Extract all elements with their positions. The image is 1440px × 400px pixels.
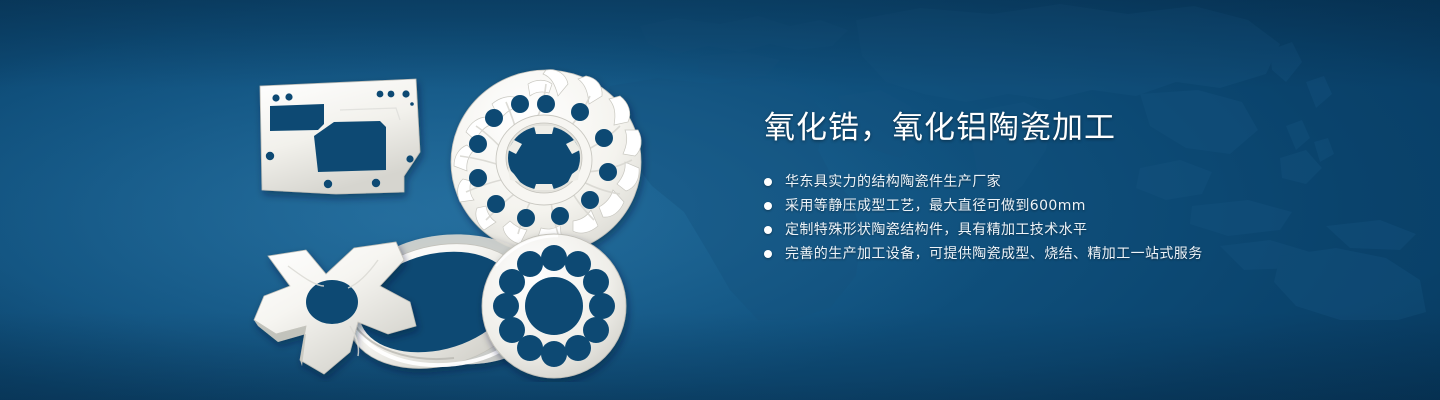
banner-text-block: 氧化锆，氧化铝陶瓷加工 华东具实力的结构陶瓷件生产厂家 采用等静压成型工艺，最大… — [764, 108, 1384, 266]
list-item: 完善的生产加工设备，可提供陶瓷成型、烧结、精加工一站式服务 — [764, 242, 1384, 266]
bullet-text: 华东具实力的结构陶瓷件生产厂家 — [785, 170, 1001, 194]
ceramic-parts-photo — [228, 34, 658, 382]
banner-feature-list: 华东具实力的结构陶瓷件生产厂家 采用等静压成型工艺，最大直径可做到600mm 定… — [764, 170, 1384, 266]
ceramic-parts-illustration — [228, 34, 658, 382]
list-item: 采用等静压成型工艺，最大直径可做到600mm — [764, 194, 1384, 218]
bullet-dot-icon — [764, 178, 772, 186]
bullet-text: 定制特殊形状陶瓷结构件，具有精加工技术水平 — [785, 218, 1087, 242]
bullet-dot-icon — [764, 202, 772, 210]
bullet-text: 采用等静压成型工艺，最大直径可做到600mm — [785, 194, 1086, 218]
banner-headline: 氧化锆，氧化铝陶瓷加工 — [764, 108, 1384, 148]
list-item: 华东具实力的结构陶瓷件生产厂家 — [764, 170, 1384, 194]
bullet-dot-icon — [764, 250, 772, 258]
bullet-dot-icon — [764, 226, 772, 234]
perforated-ceramic-flange-disc — [482, 234, 626, 378]
machined-ceramic-plate — [260, 79, 420, 194]
list-item: 定制特殊形状陶瓷结构件，具有精加工技术水平 — [764, 218, 1384, 242]
ceramic-impeller-rotor — [451, 70, 641, 254]
bullet-text: 完善的生产加工设备，可提供陶瓷成型、烧结、精加工一站式服务 — [785, 242, 1203, 266]
promo-banner: 氧化锆，氧化铝陶瓷加工 华东具实力的结构陶瓷件生产厂家 采用等静压成型工艺，最大… — [0, 0, 1440, 400]
